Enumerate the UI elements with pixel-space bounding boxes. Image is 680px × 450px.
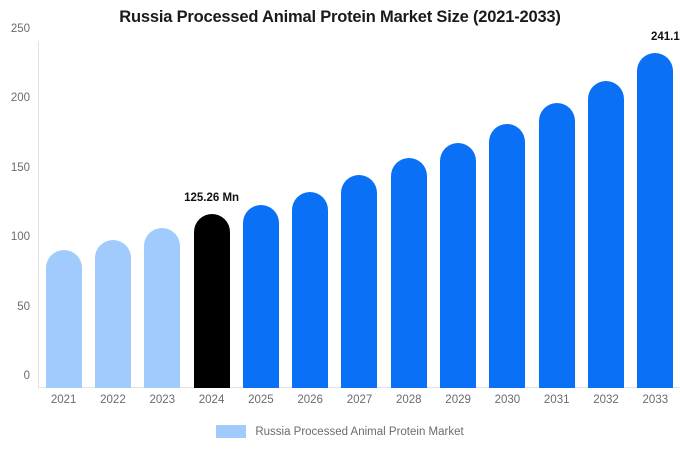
bar-slot-2032[interactable] bbox=[581, 41, 630, 388]
legend-label: Russia Processed Animal Protein Market bbox=[255, 426, 463, 438]
bar-2028[interactable] bbox=[391, 158, 427, 388]
y-axis-tick-1: 50 bbox=[17, 301, 30, 313]
legend-item-0[interactable]: Russia Processed Animal Protein Market bbox=[216, 425, 463, 438]
bar-2032[interactable] bbox=[588, 81, 624, 388]
y-axis-tick-4: 200 bbox=[11, 92, 30, 104]
bar-slot-2030[interactable] bbox=[483, 41, 532, 388]
bar-slot-2021[interactable] bbox=[39, 41, 88, 388]
bar-2026[interactable] bbox=[292, 192, 328, 388]
x-axis-tick-2030: 2030 bbox=[483, 394, 532, 406]
bar-2031[interactable] bbox=[539, 103, 575, 388]
bar-series: 125.26 Mn241.17 Mn bbox=[39, 41, 680, 388]
bar-2021[interactable] bbox=[46, 250, 82, 388]
x-axis-tick-2032: 2032 bbox=[581, 394, 630, 406]
x-axis-tick-2021: 2021 bbox=[39, 394, 88, 406]
y-axis-tick-0: 0 bbox=[24, 370, 30, 382]
y-axis-tick-2: 100 bbox=[11, 231, 30, 243]
bar-slot-2033[interactable]: 241.17 Mn bbox=[631, 41, 680, 388]
bar-slot-2025[interactable] bbox=[236, 41, 285, 388]
x-axis-tick-2024: 2024 bbox=[187, 394, 236, 406]
bar-2025[interactable] bbox=[243, 205, 279, 388]
x-axis-tick-2029: 2029 bbox=[433, 394, 482, 406]
y-axis-tick-3: 150 bbox=[11, 162, 30, 174]
x-axis-tick-2026: 2026 bbox=[286, 394, 335, 406]
chart-legend: Russia Processed Animal Protein Market bbox=[0, 425, 680, 438]
y-axis-tick-5: 250 bbox=[11, 23, 30, 35]
bar-2027[interactable] bbox=[341, 175, 377, 388]
plot-area: 050100150200250 125.26 Mn241.17 Mn bbox=[38, 41, 680, 388]
legend-swatch-icon bbox=[216, 425, 246, 438]
bar-slot-2031[interactable] bbox=[532, 41, 581, 388]
x-axis-tick-2023: 2023 bbox=[138, 394, 187, 406]
bar-value-label-2033: 241.17 Mn bbox=[651, 31, 680, 43]
x-axis-tick-2027: 2027 bbox=[335, 394, 384, 406]
x-axis-tick-2025: 2025 bbox=[236, 394, 285, 406]
bar-slot-2027[interactable] bbox=[335, 41, 384, 388]
bar-value-label-2024: 125.26 Mn bbox=[184, 192, 239, 204]
bar-slot-2022[interactable] bbox=[88, 41, 137, 388]
bar-slot-2026[interactable] bbox=[286, 41, 335, 388]
bar-slot-2029[interactable] bbox=[433, 41, 482, 388]
bar-2023[interactable] bbox=[144, 228, 180, 388]
bar-slot-2023[interactable] bbox=[138, 41, 187, 388]
bar-2029[interactable] bbox=[440, 143, 476, 388]
page-title: Russia Processed Animal Protein Market S… bbox=[0, 8, 680, 27]
x-axis-tick-2028: 2028 bbox=[384, 394, 433, 406]
x-axis-tick-labels: 2021202220232024202520262027202820292030… bbox=[39, 394, 680, 412]
bar-slot-2028[interactable] bbox=[384, 41, 433, 388]
bar-2024[interactable] bbox=[194, 214, 230, 388]
x-axis-tick-2022: 2022 bbox=[88, 394, 137, 406]
bar-2030[interactable] bbox=[489, 124, 525, 388]
bar-2033[interactable] bbox=[637, 53, 673, 388]
bar-slot-2024[interactable]: 125.26 Mn bbox=[187, 41, 236, 388]
x-axis-tick-2033: 2033 bbox=[631, 394, 680, 406]
x-axis-tick-2031: 2031 bbox=[532, 394, 581, 406]
bar-2022[interactable] bbox=[95, 240, 131, 388]
chart-page: Russia Processed Animal Protein Market S… bbox=[0, 0, 680, 450]
